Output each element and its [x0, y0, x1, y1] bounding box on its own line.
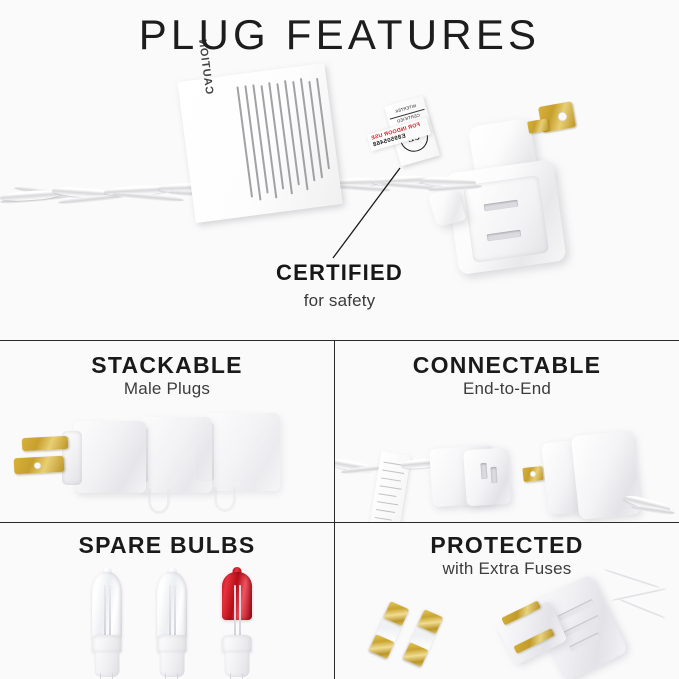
infographic-sheet: PLUG FEATURES CAUTION: [0, 0, 679, 679]
panel-connectable-title: CONNECTABLE: [335, 353, 679, 377]
divider-vertical: [334, 340, 335, 679]
panel-protected-title: PROTECTED: [335, 533, 679, 557]
bulb-1-glass: [92, 572, 122, 640]
spare-fuse-1: [369, 601, 409, 658]
callout-certified: CERTIFIED for safety: [0, 262, 679, 309]
male-plug-front: [74, 421, 146, 493]
male-plug-prong-upper: [22, 436, 69, 451]
panel-spare-bulbs-title: SPARE BULBS: [0, 533, 334, 557]
bulb-2-glass: [157, 572, 187, 640]
panel-spare-bulbs-header: SPARE BULBS: [0, 533, 334, 560]
bulb-3-glass: [222, 572, 252, 620]
panel-connectable: CONNECTABLE End-to-End: [335, 341, 679, 522]
page-title: PLUG FEATURES: [0, 14, 679, 56]
bulb-1: [92, 567, 122, 679]
panel-stackable-title: STACKABLE: [0, 353, 334, 377]
panel-connectable-header: CONNECTABLE End-to-End: [335, 353, 679, 399]
panel-protected-subtitle: with Extra Fuses: [335, 560, 679, 579]
panel-connectable-subtitle: End-to-End: [335, 380, 679, 399]
callout-certified-title: CERTIFIED: [0, 262, 679, 284]
panel-plug-features: PLUG FEATURES CAUTION: [0, 0, 679, 340]
panel-protected-header: PROTECTED with Extra Fuses: [335, 533, 679, 579]
divider-horizontal-bottom: [0, 522, 679, 523]
bulb-2: [157, 567, 187, 679]
panel-spare-bulbs: SPARE BULBS: [0, 523, 334, 679]
divider-horizontal-top: [0, 340, 679, 341]
connectable-prong: [522, 466, 543, 482]
spare-fuse-2: [403, 609, 443, 666]
panel-protected: PROTECTED with Extra Fuses: [335, 523, 679, 679]
male-plug-prong-lower: [14, 456, 65, 475]
panel-stackable-header: STACKABLE Male Plugs: [0, 353, 334, 399]
bulb-3: [222, 567, 252, 679]
panel-stackable: STACKABLE Male Plugs: [0, 341, 334, 522]
callout-certified-subtitle: for safety: [0, 292, 679, 309]
panel-stackable-subtitle: Male Plugs: [0, 380, 334, 399]
